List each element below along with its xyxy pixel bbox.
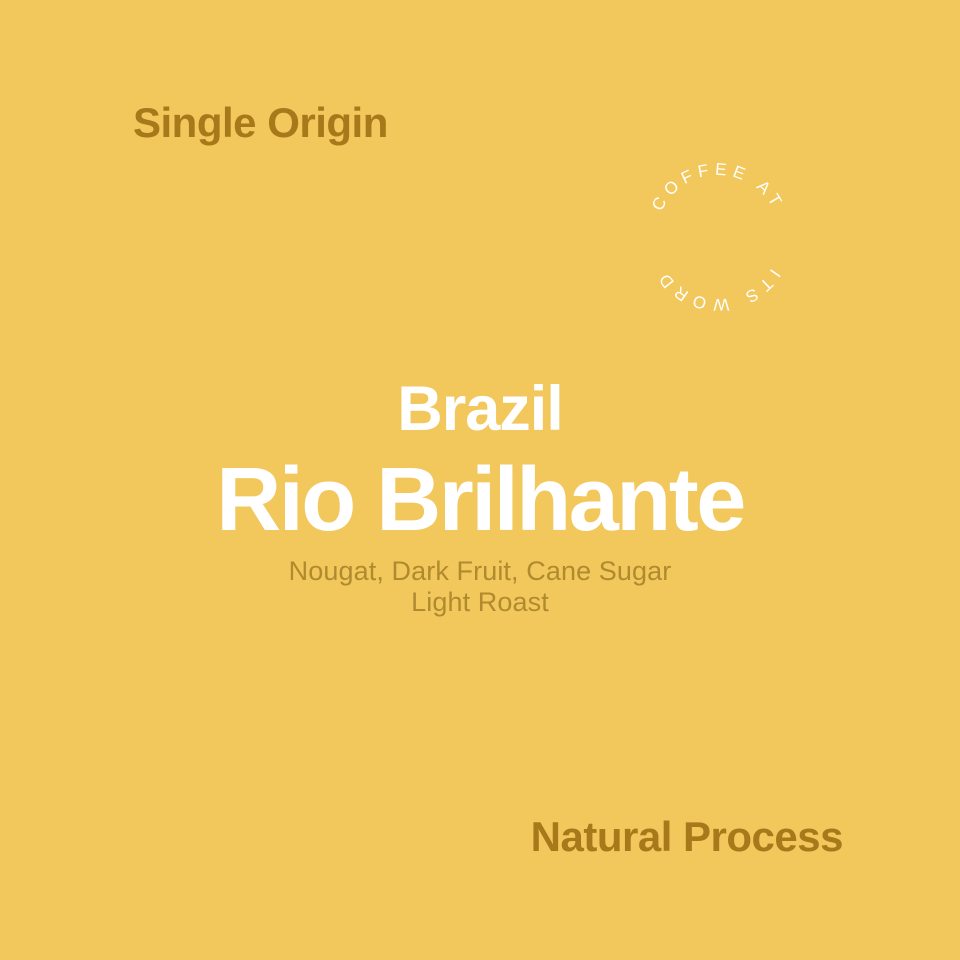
badge-arc-bottom-textpath: ITS WORD <box>652 266 784 314</box>
badge-arc-top-text: COFFEE AT <box>648 160 788 215</box>
badge-arc-bottom-text: ITS WORD <box>652 266 784 314</box>
detail-block: Nougat, Dark Fruit, Cane Sugar Light Roa… <box>0 556 960 619</box>
single-origin-eyebrow: Single Origin <box>133 99 388 147</box>
product-title-block: Brazil Rio Brilhante Nougat, Dark Fruit,… <box>0 378 960 619</box>
roast-level: Light Roast <box>0 587 960 618</box>
circular-brand-badge: COFFEE AT ITS WORD <box>638 157 798 317</box>
process-method: Natural Process <box>531 813 843 861</box>
country-name: Brazil <box>0 378 960 441</box>
badge-arc-top-textpath: COFFEE AT <box>648 160 788 215</box>
coffee-label: Single Origin COFFEE AT ITS WORD Brazil … <box>0 0 960 960</box>
lot-name: Rio Brilhante <box>0 455 960 545</box>
tasting-notes: Nougat, Dark Fruit, Cane Sugar <box>0 556 960 587</box>
